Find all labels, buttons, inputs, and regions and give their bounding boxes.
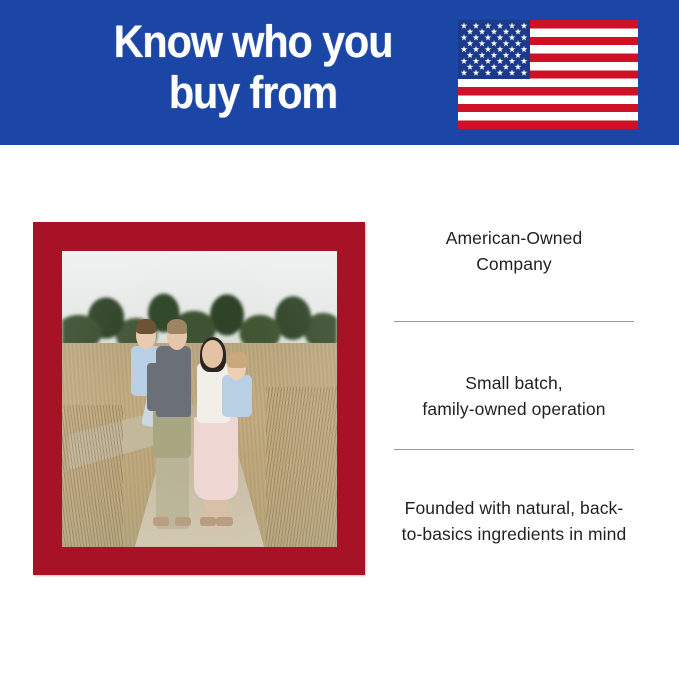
flag-star [485,46,492,53]
flag-star [479,63,486,70]
flag-star [515,40,522,47]
photo-mother-skirt [194,417,238,500]
flag-star [485,58,492,65]
family-photo [62,251,337,547]
photo-sandal-3 [200,517,217,526]
flag-star [503,28,510,35]
photo-father-arm [147,363,161,410]
main-content: American-Owned Company Small batch, fami… [0,145,679,679]
feature-item-natural-ingredients: Founded with natural, back- to-basics in… [382,495,646,547]
flag-star [485,34,492,41]
flag-star [461,58,468,65]
flag-star [467,40,474,47]
flag-star [473,22,480,29]
flag-star [521,34,528,41]
flag-star [521,46,528,53]
flag-star [467,52,474,59]
flag-star [497,58,504,65]
flag-star [521,58,528,65]
flag-star [461,34,468,41]
photo-grass-right [266,387,338,547]
header-banner: Know who you buy from [0,0,679,145]
flag-star [473,58,480,65]
flag-star [515,28,522,35]
american-flag-icon [458,20,638,129]
flag-star [503,52,510,59]
flag-star [509,69,516,76]
feature-item-american-owned: American-Owned Company [382,225,646,277]
flag-star [509,22,516,29]
flag-star [461,22,468,29]
flag-star [473,46,480,53]
flag-star [497,46,504,53]
flag-star [497,69,504,76]
feature-divider-1 [394,321,634,322]
flag-star [473,34,480,41]
feature-item-small-batch: Small batch, family-owned operation [382,370,646,422]
flag-star [521,22,528,29]
flag-stars [458,20,530,79]
flag-star [473,69,480,76]
flag-star [491,40,498,47]
flag-star [491,52,498,59]
flag-star [467,28,474,35]
photo-toddler-hair [227,352,248,368]
flag-star [509,58,516,65]
flag-star [521,69,528,76]
photo-mother-head [202,340,223,368]
flag-star [497,34,504,41]
flag-star [461,69,468,76]
flag-star [485,22,492,29]
flag-star [491,28,498,35]
feature-divider-2 [394,449,634,450]
photo-sandal-2 [175,517,192,526]
flag-star [479,28,486,35]
photo-father-hair [167,319,188,334]
photo-boy-hair [136,319,155,334]
flag-star [479,52,486,59]
flag-star [491,63,498,70]
flag-star [515,63,522,70]
flag-star [485,69,492,76]
photo-toddler-torso [222,375,252,416]
photo-sandal-1 [153,517,170,526]
flag-star [503,40,510,47]
flag-star [497,22,504,29]
flag-star [479,40,486,47]
photo-sandal-4 [216,517,233,526]
photo-frame [33,222,365,575]
flag-star [503,63,510,70]
flag-star [515,52,522,59]
flag-star [509,34,516,41]
page-title: Know who you buy from [74,16,433,118]
photo-grass-left [62,405,123,547]
flag-star [461,46,468,53]
flag-star [509,46,516,53]
flag-star [467,63,474,70]
